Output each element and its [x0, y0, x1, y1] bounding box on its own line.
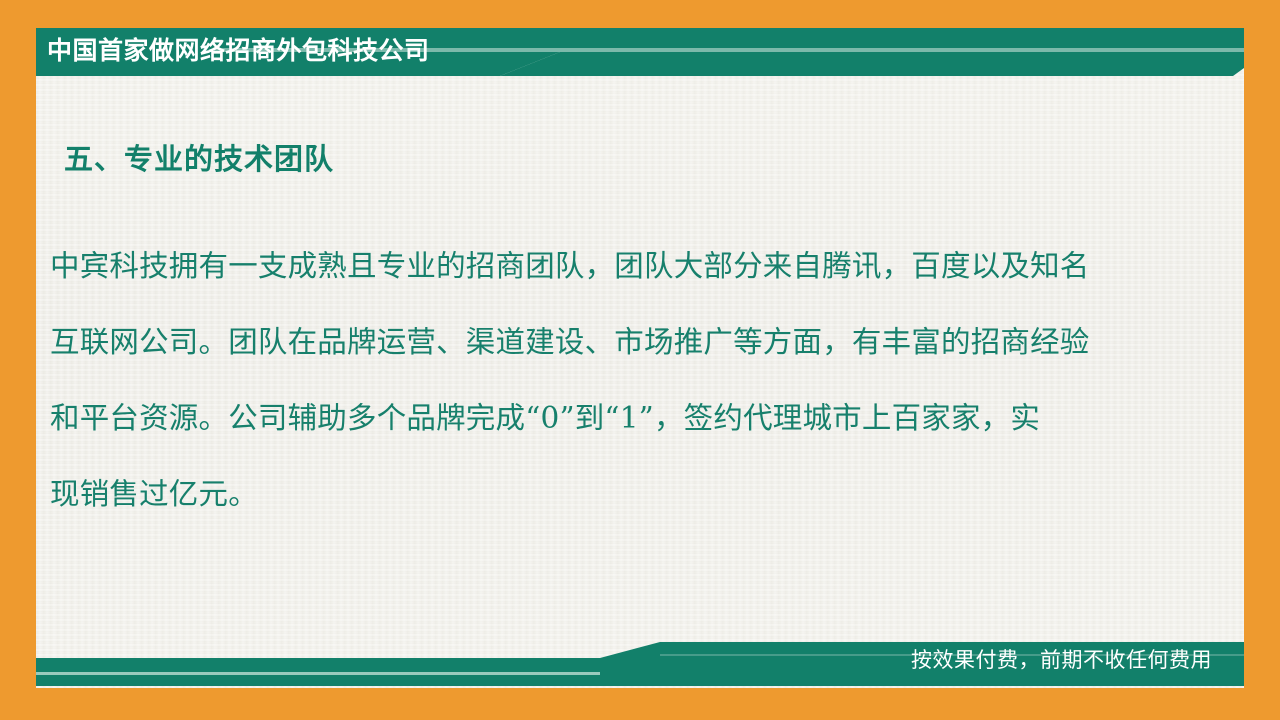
body-line: 中宾科技拥有一支成熟且专业的招商团队，团队大部分来自腾讯，百度以及知名 — [50, 228, 1186, 304]
footer-tagline: 按效果付费，前期不收任何费用 — [911, 645, 1212, 677]
body-line: 互联网公司。团队在品牌运营、渠道建设、市场推广等方面，有丰富的招商经验 — [50, 304, 1186, 380]
body-line: 现销售过亿元。 — [50, 456, 1186, 532]
slide-canvas: 中国首家做网络招商外包科技公司 五、专业的技术团队 中宾科技拥有一支成熟且专业的… — [0, 0, 1280, 720]
body-line: 和平台资源。公司辅助多个品牌完成“0”到“1”，签约代理城市上百家家，实 — [50, 380, 1186, 456]
section-title: 五、专业的技术团队 — [64, 136, 334, 178]
body-paragraph: 中宾科技拥有一支成熟且专业的招商团队，团队大部分来自腾讯，百度以及知名 互联网公… — [50, 228, 1186, 532]
header-title: 中国首家做网络招商外包科技公司 — [47, 34, 567, 68]
